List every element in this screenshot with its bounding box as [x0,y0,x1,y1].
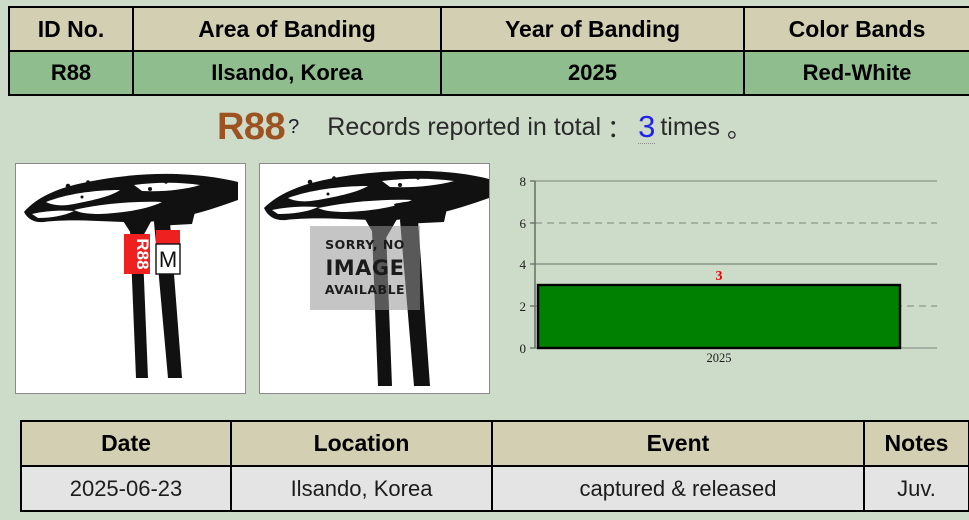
sighting-records-table: Date Location Event Notes 2025-06-23 Ils… [20,420,969,512]
info-header-color-bands: Color Bands [744,7,969,51]
info-value-year-of-banding: 2025 [441,51,744,95]
color-band-red-label: R88 [133,238,152,269]
info-value-id-no: R88 [9,51,133,95]
record-cell-date: 2025-06-23 [21,466,231,511]
banding-info-table: ID No. Area of Banding Year of Banding C… [8,6,969,96]
info-table-header-row: ID No. Area of Banding Year of Banding C… [9,7,969,51]
headline-question-mark: ? [288,116,299,139]
secondary-bird-photo[interactable]: SORRY, NO IMAGE AVAILABLE [259,163,490,394]
table-row[interactable]: 2025-06-23 Ilsando, Korea captured & rel… [21,466,969,511]
headline-terminator: 。 [727,109,752,145]
info-value-color-bands: Red-White [744,51,969,95]
records-per-year-chart: 8 6 4 2 0 3 2025 [505,163,957,373]
bar-chart-svg: 8 6 4 2 0 3 2025 [505,163,957,373]
records-header-row: Date Location Event Notes [21,421,969,466]
records-header-event: Event [492,421,864,466]
bird-legs-illustration: R88 M [16,164,245,393]
headline-record-count: 3 [638,111,655,144]
chart-bar-2025 [538,285,900,348]
info-table-value-row: R88 Ilsando, Korea 2025 Red-White [9,51,969,95]
records-summary-headline: R88 ? Records reported in total ： 3 time… [0,98,969,156]
info-header-year-of-banding: Year of Banding [441,7,744,51]
color-band-red: R88 [124,234,152,274]
chart-bar-value-label: 3 [716,269,723,284]
color-band-white: M [156,230,180,274]
no-image-line-1: SORRY, NO [325,236,405,255]
records-header-date: Date [21,421,231,466]
headline-bird-id: R88 [217,106,285,149]
headline-colon: ： [607,109,632,145]
record-cell-location: Ilsando, Korea [231,466,492,511]
no-image-line-3: AVAILABLE [325,281,405,300]
record-cell-event: captured & released [492,466,864,511]
info-header-id-no: ID No. [9,7,133,51]
chart-ytick-0: 0 [520,341,527,356]
chart-ytick-2: 2 [520,299,527,314]
record-cell-notes: Juv. [864,466,969,511]
records-header-location: Location [231,421,492,466]
headline-times-unit: times [660,113,720,142]
no-image-available-overlay: SORRY, NO IMAGE AVAILABLE [310,226,420,310]
chart-ytick-6: 6 [520,216,527,231]
no-image-line-2: IMAGE [325,255,404,281]
info-header-area-of-banding: Area of Banding [133,7,441,51]
headline-label: Records reported in total [327,113,601,142]
banded-bird-photo[interactable]: R88 M [15,163,246,394]
chart-ytick-8: 8 [520,174,527,189]
records-header-notes: Notes [864,421,969,466]
chart-xtick-2025: 2025 [707,351,732,365]
color-band-white-label: M [159,247,177,272]
info-value-area-of-banding: Ilsando, Korea [133,51,441,95]
chart-ytick-4: 4 [520,257,527,272]
